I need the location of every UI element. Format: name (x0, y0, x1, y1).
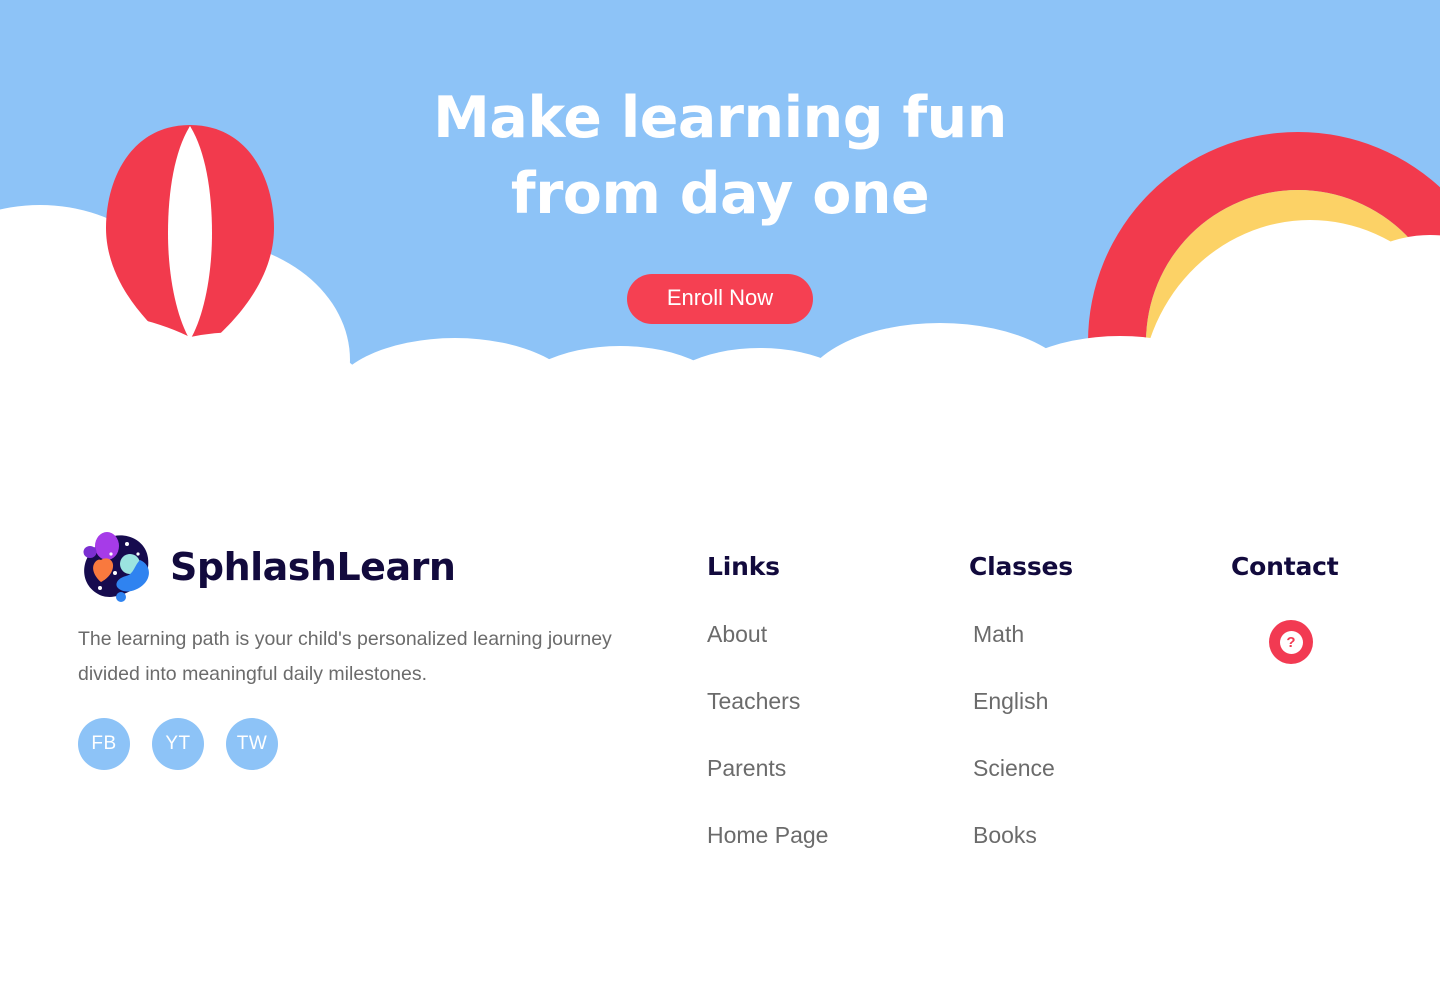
links-column-title: Links (707, 552, 828, 582)
footer-columns: SphlashLearn The learning path is your c… (0, 420, 1440, 920)
hero-heading: Make learning fun from day one (0, 80, 1440, 232)
class-item-math[interactable]: Math (969, 620, 1073, 648)
facebook-icon[interactable]: FB (78, 718, 130, 770)
hero-heading-line-1: Make learning fun (0, 80, 1440, 156)
twitter-icon[interactable]: TW (226, 718, 278, 770)
sidebar-item-parents[interactable]: Parents (707, 754, 828, 782)
brand-description: The learning path is your child's person… (78, 622, 638, 692)
enroll-now-button[interactable]: Enroll Now (627, 274, 813, 324)
class-item-books[interactable]: Books (969, 821, 1073, 849)
brand-name: SphlashLearn (170, 545, 455, 589)
contact-icons: ? (1231, 620, 1339, 664)
class-item-english[interactable]: English (969, 687, 1073, 715)
page-root: Make learning fun from day one Enroll No… (0, 0, 1440, 996)
hero-section: Make learning fun from day one Enroll No… (0, 0, 1440, 420)
sidebar-item-home-page[interactable]: Home Page (707, 821, 828, 849)
links-column: Links About Teachers Parents Home Page (707, 552, 828, 888)
sphlashlearn-logo-icon (78, 532, 154, 602)
class-item-science[interactable]: Science (969, 754, 1073, 782)
social-links: FB YT TW (78, 718, 648, 770)
contact-column-title: Contact (1231, 552, 1339, 582)
footer-section: SphlashLearn The learning path is your c… (0, 420, 1440, 996)
help-question-icon[interactable]: ? (1269, 620, 1313, 664)
youtube-icon[interactable]: YT (152, 718, 204, 770)
hero-heading-line-2: from day one (0, 156, 1440, 232)
classes-column-title: Classes (969, 552, 1073, 582)
hero-cta-wrap: Enroll Now (0, 274, 1440, 324)
brand-row: SphlashLearn (78, 532, 648, 602)
help-question-glyph: ? (1280, 631, 1303, 654)
brand-column: SphlashLearn The learning path is your c… (78, 532, 648, 770)
contact-column: Contact ? (1231, 552, 1339, 664)
sidebar-item-teachers[interactable]: Teachers (707, 687, 828, 715)
sidebar-item-about[interactable]: About (707, 620, 828, 648)
classes-column: Classes Math English Science Books (969, 552, 1073, 888)
